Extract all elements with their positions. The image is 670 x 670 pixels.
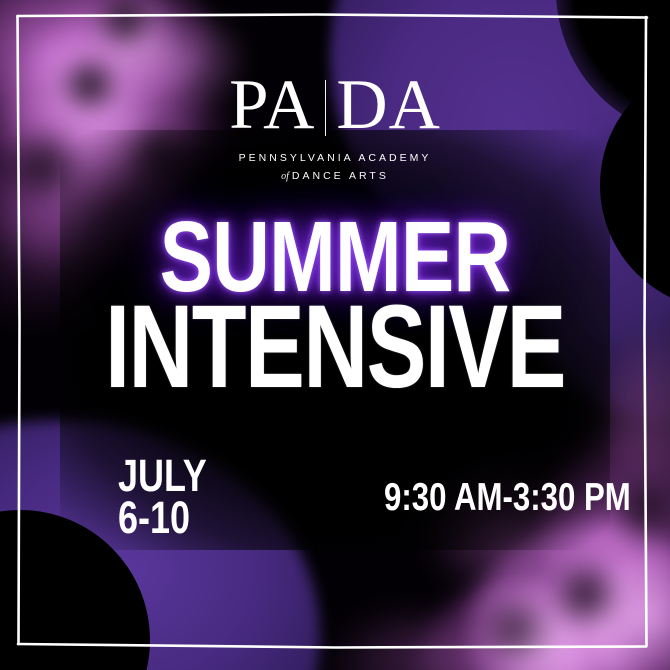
logo-subtitle-line1: PENNSYLVANIA ACADEMY <box>0 152 670 164</box>
pada-logo: PA DA PENNSYLVANIA ACADEMY ofDANCE ARTS <box>0 72 670 182</box>
summer-intensive-poster: PA DA PENNSYLVANIA ACADEMY ofDANCE ARTS … <box>0 0 670 670</box>
headline: SUMMER INTENSIVE <box>0 214 670 400</box>
pada-logo-mark: PA DA <box>220 72 450 139</box>
logo-subtitle-of: of <box>281 171 289 182</box>
event-time: 9:30 AM-3:30 PM <box>384 478 631 517</box>
logo-text-pa: PA <box>220 72 324 139</box>
event-date-range: 6-10 <box>118 497 207 539</box>
logo-subtitle-dance-arts: DANCE ARTS <box>292 170 389 182</box>
poster-content: PA DA PENNSYLVANIA ACADEMY ofDANCE ARTS … <box>0 0 670 670</box>
event-date: JULY 6-10 <box>118 455 207 539</box>
logo-divider-rule <box>325 80 326 136</box>
logo-text-da: DA <box>327 72 450 139</box>
logo-subtitle-line2: ofDANCE ARTS <box>0 170 670 182</box>
event-date-month: JULY <box>118 455 207 497</box>
headline-line-intensive: INTENSIVE <box>80 296 589 400</box>
